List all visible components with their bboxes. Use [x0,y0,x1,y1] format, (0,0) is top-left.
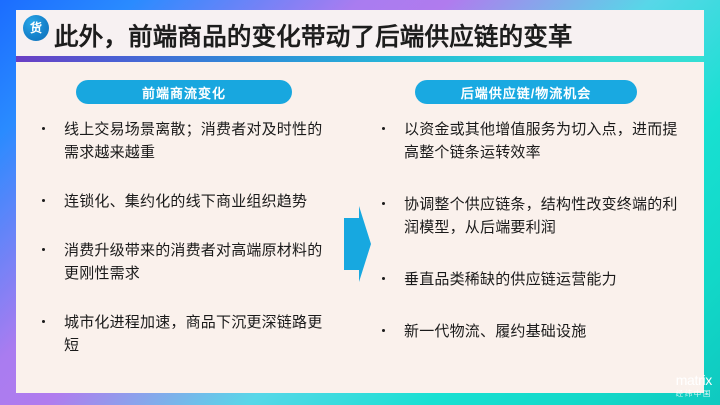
right-arrow-icon [342,204,372,284]
bullet-dot-icon [382,277,385,280]
list-item-text: 以资金或其他增值服务为切入点，进而提高整个链条运转效率 [404,121,678,161]
list-item-text: 协调整个供应链条，结构性改变终端的利润模型，从后端要利润 [404,196,678,236]
bullet-list-right: 以资金或其他增值服务为切入点，进而提高整个链条运转效率 协调整个供应链条，结构性… [366,118,686,343]
bullet-dot-icon [42,248,45,251]
list-item: 连锁化、集约化的线下商业组织趋势 [34,190,336,213]
bullet-dot-icon [382,329,385,332]
page-title: 此外，前端商品的变化带动了后端供应链的变革 [54,13,573,57]
bullet-dot-icon [42,127,45,130]
two-column-body: 前端商流变化 线上交易场景离散；消费者对及时性的需求越来越重 连锁化、集约化的线… [16,62,704,393]
slide-canvas: 货 此外，前端商品的变化带动了后端供应链的变革 前端商流变化 线上交易场景离散；… [0,0,720,405]
bullet-dot-icon [42,199,45,202]
column-front-end: 前端商流变化 线上交易场景离散；消费者对及时性的需求越来越重 连锁化、集约化的线… [26,62,342,393]
list-item-text: 新一代物流、履约基础设施 [404,323,586,340]
list-item: 消费升级带来的消费者对高端原材料的更刚性需求 [34,239,336,285]
list-item-text: 消费升级带来的消费者对高端原材料的更刚性需求 [64,242,322,282]
list-item-text: 线上交易场景离散；消费者对及时性的需求越来越重 [64,121,322,161]
list-item: 新一代物流、履约基础设施 [374,320,680,343]
list-item: 垂直品类稀缺的供应链运营能力 [374,268,680,291]
list-item: 协调整个供应链条，结构性改变终端的利润模型，从后端要利润 [374,193,680,239]
brand-logo: matrix 经纬中国 [676,373,712,399]
list-item-text: 连锁化、集约化的线下商业组织趋势 [64,193,307,210]
category-badge-icon: 货 [23,15,49,41]
list-item-text: 城市化进程加速，商品下沉更深链路更短 [64,314,322,354]
bullet-dot-icon [382,127,385,130]
column-heading-right: 后端供应链/物流机会 [415,80,637,104]
slide-content-card: 货 此外，前端商品的变化带动了后端供应链的变革 前端商流变化 线上交易场景离散；… [16,10,704,393]
column-back-end: 后端供应链/物流机会 以资金或其他增值服务为切入点，进而提高整个链条运转效率 协… [366,62,686,393]
list-item: 城市化进程加速，商品下沉更深链路更短 [34,311,336,357]
bullet-list-left: 线上交易场景离散；消费者对及时性的需求越来越重 连锁化、集约化的线下商业组织趋势… [26,118,342,357]
brand-logo-subtitle: 经纬中国 [676,388,712,399]
bullet-dot-icon [382,202,385,205]
list-item-text: 垂直品类稀缺的供应链运营能力 [404,271,617,288]
brand-logo-name: matrix [676,373,712,387]
list-item: 线上交易场景离散；消费者对及时性的需求越来越重 [34,118,336,164]
list-item: 以资金或其他增值服务为切入点，进而提高整个链条运转效率 [374,118,680,164]
bullet-dot-icon [42,320,45,323]
column-heading-left: 前端商流变化 [76,80,292,104]
